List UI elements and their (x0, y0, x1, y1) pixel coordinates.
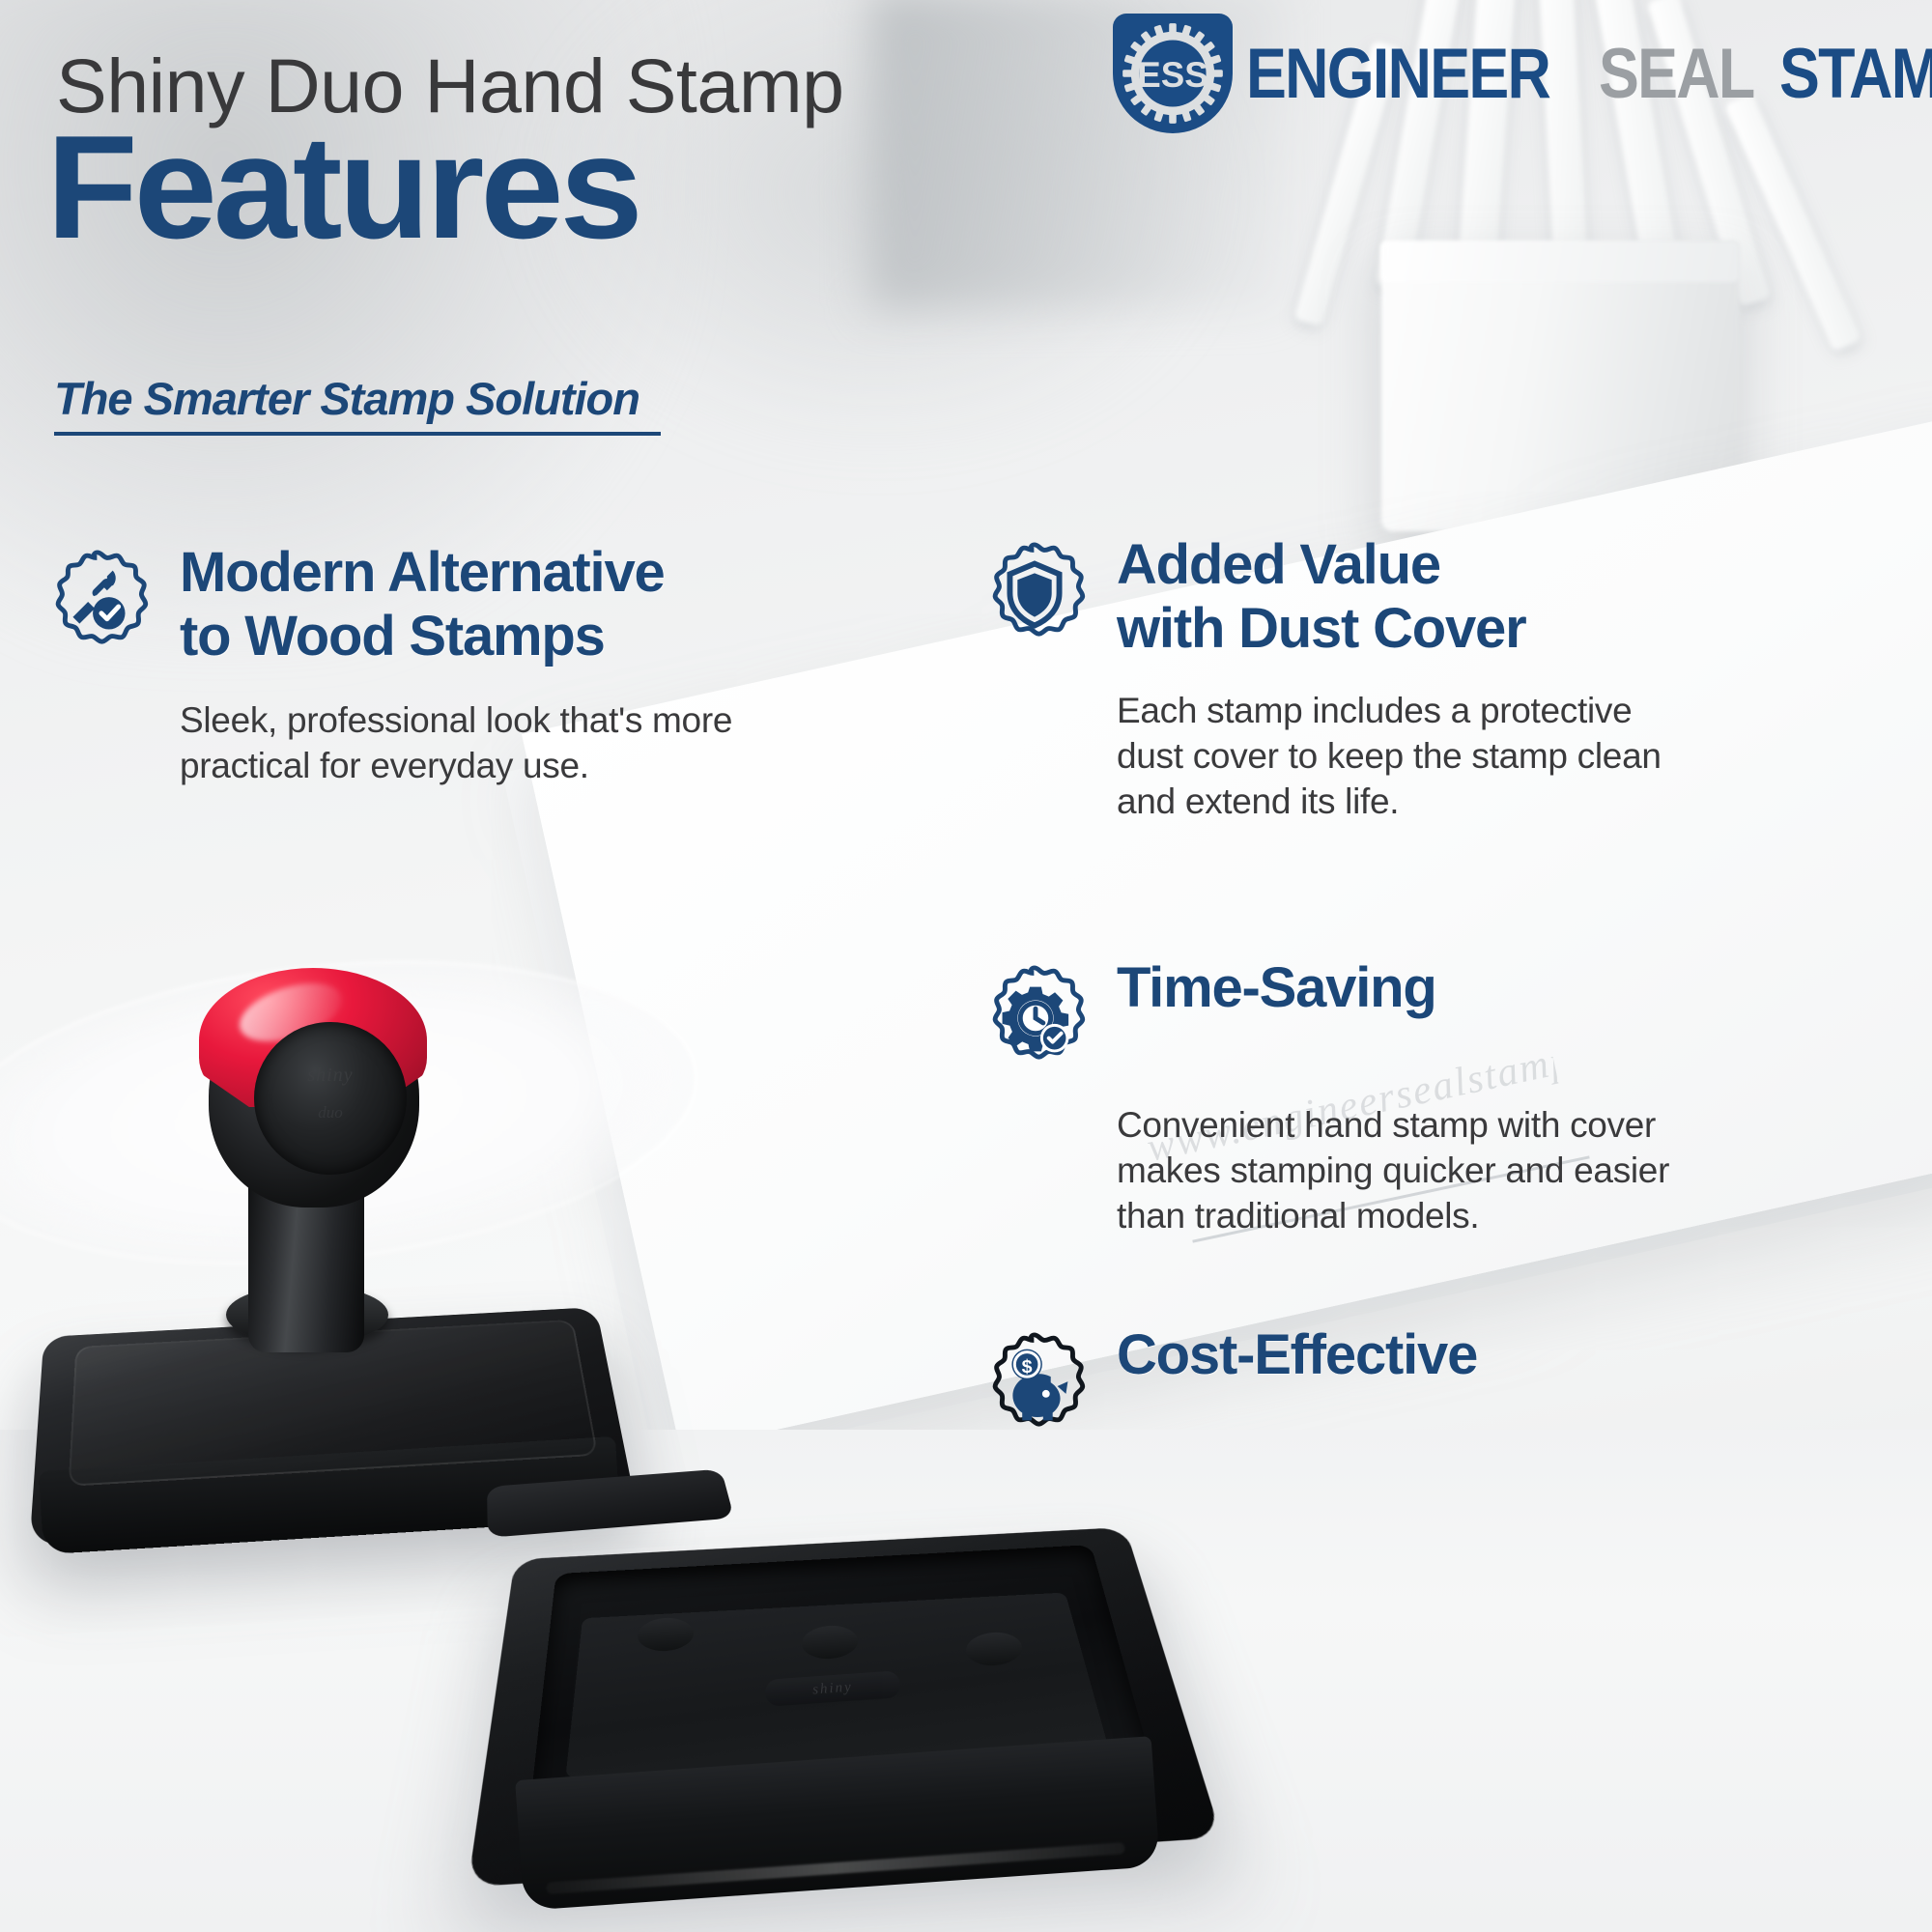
piggy-bank-badge-icon: $ (978, 1329, 1092, 1448)
stamp-tool-check-badge-icon (41, 547, 155, 666)
logo-word-seal: SEAL (1599, 39, 1754, 109)
gear-clock-check-badge-icon (978, 962, 1092, 1081)
feature-title: Time-Saving (1117, 956, 1436, 1020)
feature-description: Sleek, professional look that's more pra… (180, 697, 929, 788)
infographic-canvas: www.engineersealstamps shiny duo shiny (0, 0, 1932, 1932)
feature-title: Added Value with Dust Cover (1117, 533, 1526, 661)
feature-description: Convenient hand stamp with cover makes s… (1117, 1102, 1905, 1238)
ess-mark-text: ESS (1137, 55, 1207, 95)
subtitle-underline (54, 432, 661, 436)
gear-icon: ESS (1121, 21, 1225, 126)
brand-wordmark: ENGINEER SEAL STAMPS .COM (1246, 39, 1932, 109)
brand-logo[interactable]: ESS ENGINEER SEAL STAMPS .COM (1113, 12, 1924, 135)
shield-badge-icon (978, 539, 1092, 658)
feature-item-added-value: Added Value with Dust Cover Each stamp i… (978, 533, 1905, 824)
feature-description: Each stamp includes a protective dust co… (1117, 688, 1905, 824)
feature-item-cost-effective: $ Cost-Effective (978, 1323, 1905, 1448)
subtitle-block: The Smarter Stamp Solution (54, 372, 661, 436)
feature-title: Modern Alternative to Wood Stamps (180, 541, 665, 668)
headline: Features (46, 114, 639, 261)
logo-word-stamps: STAMPS (1779, 39, 1932, 109)
feature-title: Cost-Effective (1117, 1323, 1477, 1387)
logo-word-engineer: ENGINEER (1246, 39, 1549, 109)
feature-item-modern-alternative: Modern Alternative to Wood Stamps Sleek,… (41, 541, 929, 788)
subtitle: The Smarter Stamp Solution (54, 372, 661, 425)
ess-shield-icon: ESS (1113, 14, 1233, 133)
svg-text:$: $ (1022, 1356, 1033, 1378)
feature-item-time-saving: Time-Saving Convenient hand stamp with c… (978, 956, 1905, 1238)
content-layer: Shiny Duo Hand Stamp (0, 0, 1932, 1932)
